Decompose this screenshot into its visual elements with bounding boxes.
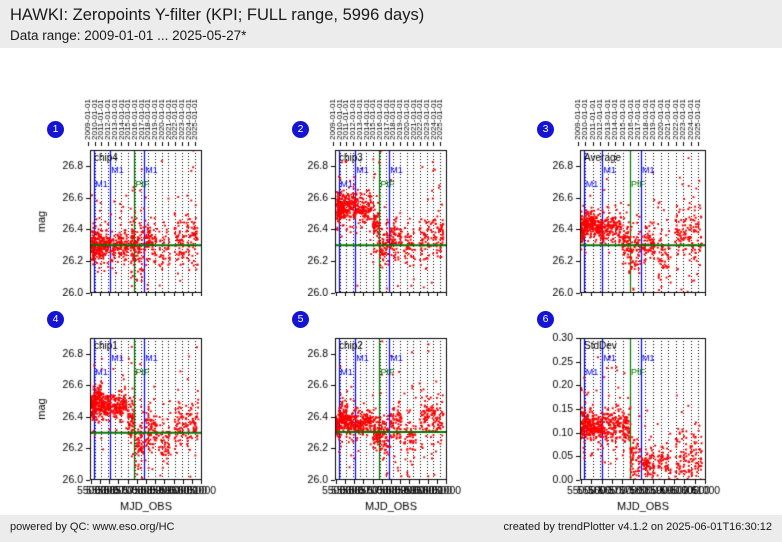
page-footer: powered by QC: www.eso.org/HC created by… [0, 515, 782, 542]
scatter-plot-chip1[interactable] [0, 286, 261, 515]
footer-credit-left: powered by QC: www.eso.org/HC [10, 521, 174, 533]
plot-grid: 1 2 3 4 5 6 [0, 48, 782, 515]
page-header: HAWKI: Zeropoints Y-filter (KPI; FULL ra… [0, 0, 782, 48]
page-title: HAWKI: Zeropoints Y-filter (KPI; FULL ra… [10, 5, 782, 26]
page-subtitle: Data range: 2009-01-01 ... 2025-05-27* [10, 26, 782, 45]
scatter-plot-chip4[interactable] [0, 48, 261, 296]
footer-credit-right: created by trendPlotter v4.1.2 on 2025-0… [504, 521, 772, 533]
scatter-plot-average[interactable] [490, 48, 782, 296]
scatter-plot-chip2[interactable] [245, 286, 506, 515]
scatter-plot-chip3[interactable] [245, 48, 506, 296]
scatter-plot-stdev[interactable] [490, 286, 782, 515]
